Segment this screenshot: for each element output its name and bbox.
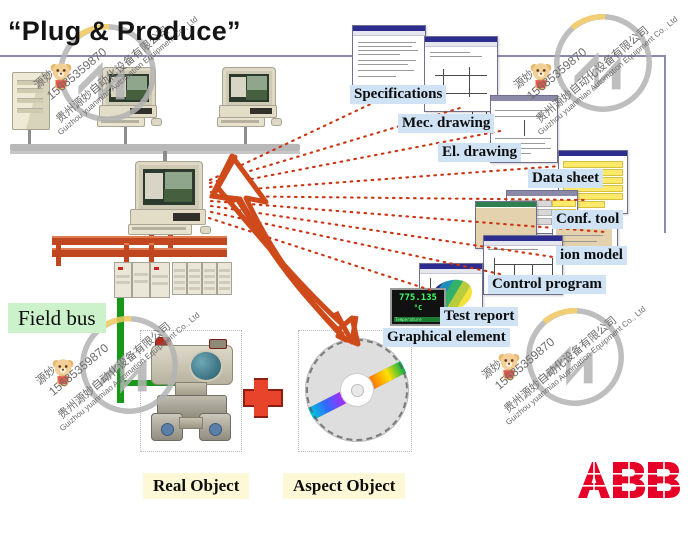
label-test-report: Test report xyxy=(440,307,518,326)
server-tower-icon xyxy=(12,72,48,128)
abb-logo xyxy=(578,462,680,498)
label-conf-tool: Conf. tool xyxy=(552,210,623,229)
watermark-phone-bottom-left: 15685359870 xyxy=(46,341,111,399)
watermark-logo-bottom-right xyxy=(520,302,630,412)
control-bus-lower xyxy=(52,248,227,257)
label-simulation-model: ion model xyxy=(556,246,627,265)
specification-document-thumbnail xyxy=(352,25,426,89)
control-bus-upper xyxy=(52,236,227,245)
watermark-bear-icon-top-right xyxy=(528,62,554,92)
title-divider xyxy=(0,55,666,57)
control-bus-riser-left xyxy=(56,236,61,266)
label-data-sheet: Data sheet xyxy=(528,169,603,188)
operator-station-icon xyxy=(126,148,218,228)
abb-logo-letter-b2 xyxy=(648,462,680,498)
graphical-element-value: 775.135 xyxy=(392,293,444,303)
workstation-icon-b xyxy=(215,68,287,126)
content-frame-right-border xyxy=(664,55,666,233)
plc-rack-icon xyxy=(114,262,232,296)
graphical-element-display: 775.135 °C Temperature xyxy=(390,288,446,326)
label-mec-drawing: Mec. drawing xyxy=(398,114,494,133)
slide-canvas: “Plug & Produce” xyxy=(0,0,693,534)
label-graphical-element: Graphical element xyxy=(383,328,510,347)
label-control-program: Control program xyxy=(488,275,606,294)
watermark-short-cn-top-right: 源妙 xyxy=(510,66,537,92)
workstation-icon-a xyxy=(95,68,167,126)
field-bus-label: Field bus xyxy=(8,303,106,333)
watermark-company-en-bottom-right: Guizhou yuanmiao Automation Equipment Co… xyxy=(504,305,647,427)
real-object-label: Real Object xyxy=(143,473,249,499)
pressure-transmitter-icon xyxy=(143,333,239,445)
graphical-element-unit: °C xyxy=(392,304,444,312)
watermark-short-cn-bottom-left: 源妙 xyxy=(32,362,59,388)
watermark-bear-icon-bottom-left xyxy=(50,358,76,388)
graphical-element-tag-bar: Temperature xyxy=(394,317,442,322)
watermark-short-cn-bottom-right: 源妙 xyxy=(478,356,505,382)
page-title: “Plug & Produce” xyxy=(8,16,241,47)
watermark-bear-icon-bottom-right xyxy=(496,352,522,382)
compact-disc-icon xyxy=(305,338,409,442)
label-specifications: Specifications xyxy=(350,85,446,104)
field-bus-trunk xyxy=(117,293,124,403)
abb-logo-letter-b1 xyxy=(613,462,645,498)
graphical-element-tag: Temperature xyxy=(395,317,422,322)
label-el-drawing: El. drawing xyxy=(438,143,521,162)
watermark-logo-top-right xyxy=(548,8,658,118)
aspect-object-label: Aspect Object xyxy=(283,473,405,499)
abb-logo-letter-a xyxy=(578,462,610,498)
watermark-bear-icon-top-left xyxy=(48,62,74,92)
plus-sign-icon xyxy=(243,378,279,414)
watermark-company-cn-bottom-right: 贵州源妙自动化设备有限公司 xyxy=(500,312,620,416)
